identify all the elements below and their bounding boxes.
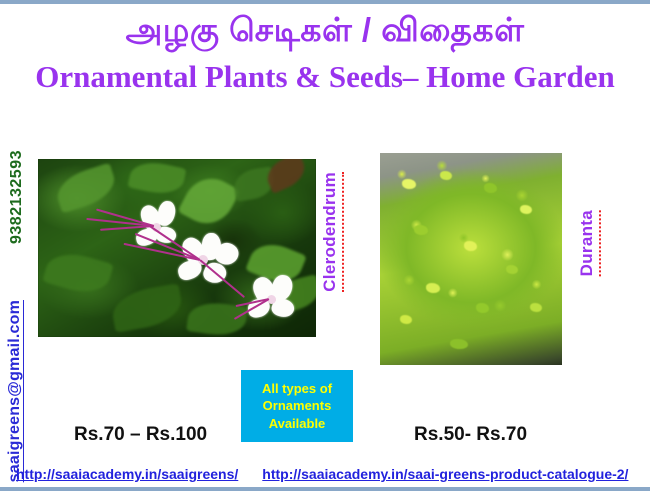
foliage-speck <box>484 183 497 193</box>
product-label-duranta: Duranta <box>577 210 601 276</box>
product-label-clerodendrum: Clerodendrum <box>320 172 344 292</box>
link-product-catalogue[interactable]: http://saaiacademy.in/saai-greens-produc… <box>262 466 628 482</box>
price-duranta: Rs.50- Rs.70 <box>414 424 527 446</box>
poster-slide: அழகு செடிகள் / விதைகள் Ornamental Plants… <box>0 0 650 491</box>
footer-links: http://saaiacademy.in/saaigreens/ http:/… <box>0 466 650 482</box>
foliage-speck <box>476 303 489 313</box>
foliage-speck <box>520 205 532 214</box>
callout-line-1: All types of <box>262 380 332 398</box>
foliage-speck <box>450 339 468 349</box>
price-clerodendrum: Rs.70 – Rs.100 <box>74 424 207 446</box>
clerodendrum-photo <box>38 159 316 337</box>
foliage-speck <box>402 179 416 189</box>
foliage-speck <box>506 265 518 274</box>
page-title-english: Ornamental Plants & Seeds– Home Garden <box>0 59 650 95</box>
foliage-speck <box>530 303 542 312</box>
callout-line-2: Ornaments <box>263 397 332 415</box>
foliage-speck <box>426 283 440 293</box>
phone-number: 9382132593 <box>8 150 26 244</box>
page-title-tamil: அழகு செடிகள் / விதைகள் <box>0 12 650 48</box>
link-saaigreens[interactable]: http://saaiacademy.in/saaigreens/ <box>16 466 238 482</box>
foliage-speck <box>400 315 412 324</box>
foliage-speck <box>464 241 477 251</box>
foliage-speck <box>414 225 428 235</box>
callout-line-3: Available <box>269 415 326 433</box>
email-address[interactable]: saaigreens@gmail.com <box>6 300 24 482</box>
duranta-photo <box>380 153 562 365</box>
callout-ornaments-available: All types of Ornaments Available <box>241 370 353 442</box>
foliage-speck <box>440 171 452 180</box>
